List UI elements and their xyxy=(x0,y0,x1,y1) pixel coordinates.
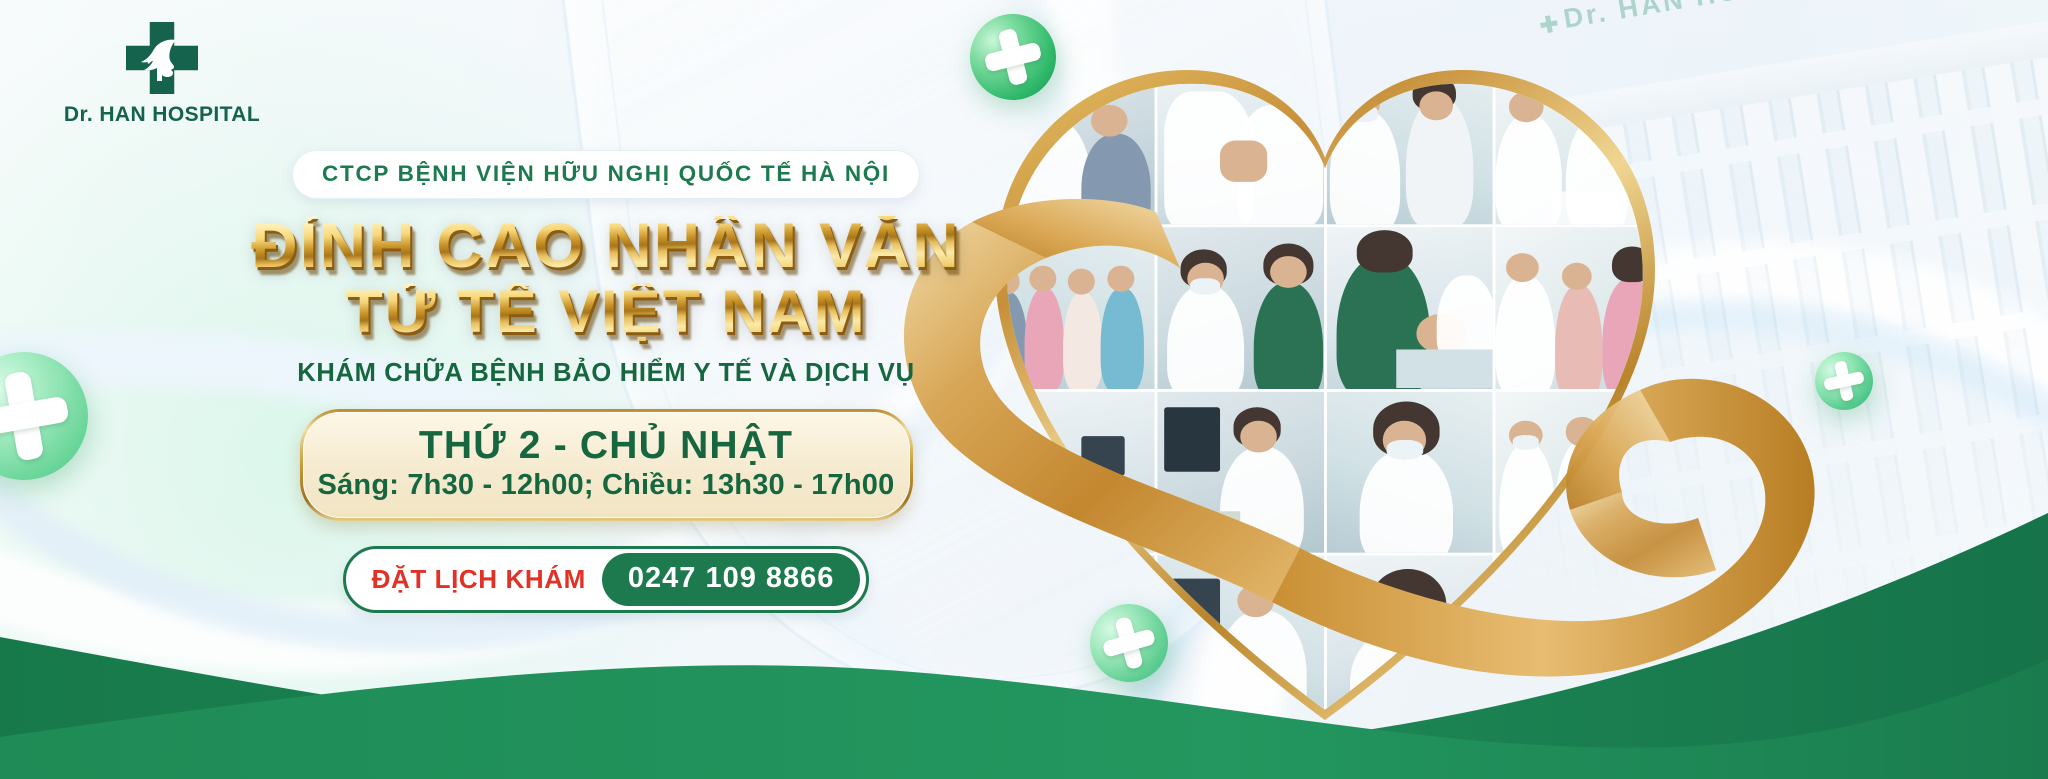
heart-photo-collage xyxy=(975,48,1675,728)
collage-photo xyxy=(988,391,1154,553)
left-copy-block: CTCP BỆNH VIỆN HỮU NGHỊ QUỐC TẾ HÀ NỘI Đ… xyxy=(226,150,986,613)
brand-logo: Dr. HAN HOSPITAL xyxy=(47,22,277,127)
hospital-promo-banner: Dr. HAN HOSPITAL Dr. HAN HOSPITAL xyxy=(0,0,2048,779)
booking-cta[interactable]: ĐẶT LỊCH KHÁM 0247 109 8866 xyxy=(343,546,870,613)
green-cross-bubble-icon xyxy=(0,342,98,490)
company-name-pill: CTCP BỆNH VIỆN HỮU NGHỊ QUỐC TẾ HÀ NỘI xyxy=(292,150,920,199)
collage-photo xyxy=(988,227,1154,389)
booking-phone-number[interactable]: 0247 109 8866 xyxy=(602,553,861,606)
building-signage: Dr. HAN HOSPITAL xyxy=(1538,0,1855,39)
subheadline: KHÁM CHỮA BỆNH BẢO HIỂM Y TẾ VÀ DỊCH VỤ xyxy=(226,359,986,388)
face-silhouette-icon xyxy=(126,22,198,94)
schedule-box: THỨ 2 - CHỦ NHẬT Sáng: 7h30 - 12h00; Chi… xyxy=(300,409,913,521)
collage-photo xyxy=(1326,391,1492,553)
collage-photo xyxy=(1496,556,1662,718)
green-cross-icon xyxy=(1539,14,1559,34)
headline-line-1: ĐỈNH CAO NHÂN VĂN xyxy=(218,216,993,277)
collage-photo xyxy=(1157,227,1323,389)
logo-text: Dr. HAN HOSPITAL xyxy=(47,103,277,127)
collage-photo xyxy=(1157,391,1323,553)
schedule-days: THỨ 2 - CHỦ NHẬT xyxy=(313,425,900,467)
collage-photo xyxy=(1496,391,1662,553)
collage-photo xyxy=(1496,227,1662,389)
building-sign-text: Dr. HAN HOSPITAL xyxy=(1561,0,1854,34)
collage-photo xyxy=(1326,227,1492,389)
headline-line-2: TỬ TẾ VIỆT NAM xyxy=(218,283,993,341)
medical-cross-face-logo-icon xyxy=(126,22,198,94)
booking-label: ĐẶT LỊCH KHÁM xyxy=(372,564,586,595)
schedule-box-inner: THỨ 2 - CHỦ NHẬT Sáng: 7h30 - 12h00; Chi… xyxy=(303,412,910,518)
headline: ĐỈNH CAO NHÂN VĂN TỬ TẾ VIỆT NAM xyxy=(226,216,986,341)
schedule-hours: Sáng: 7h30 - 12h00; Chiều: 13h30 - 17h00 xyxy=(313,469,900,502)
